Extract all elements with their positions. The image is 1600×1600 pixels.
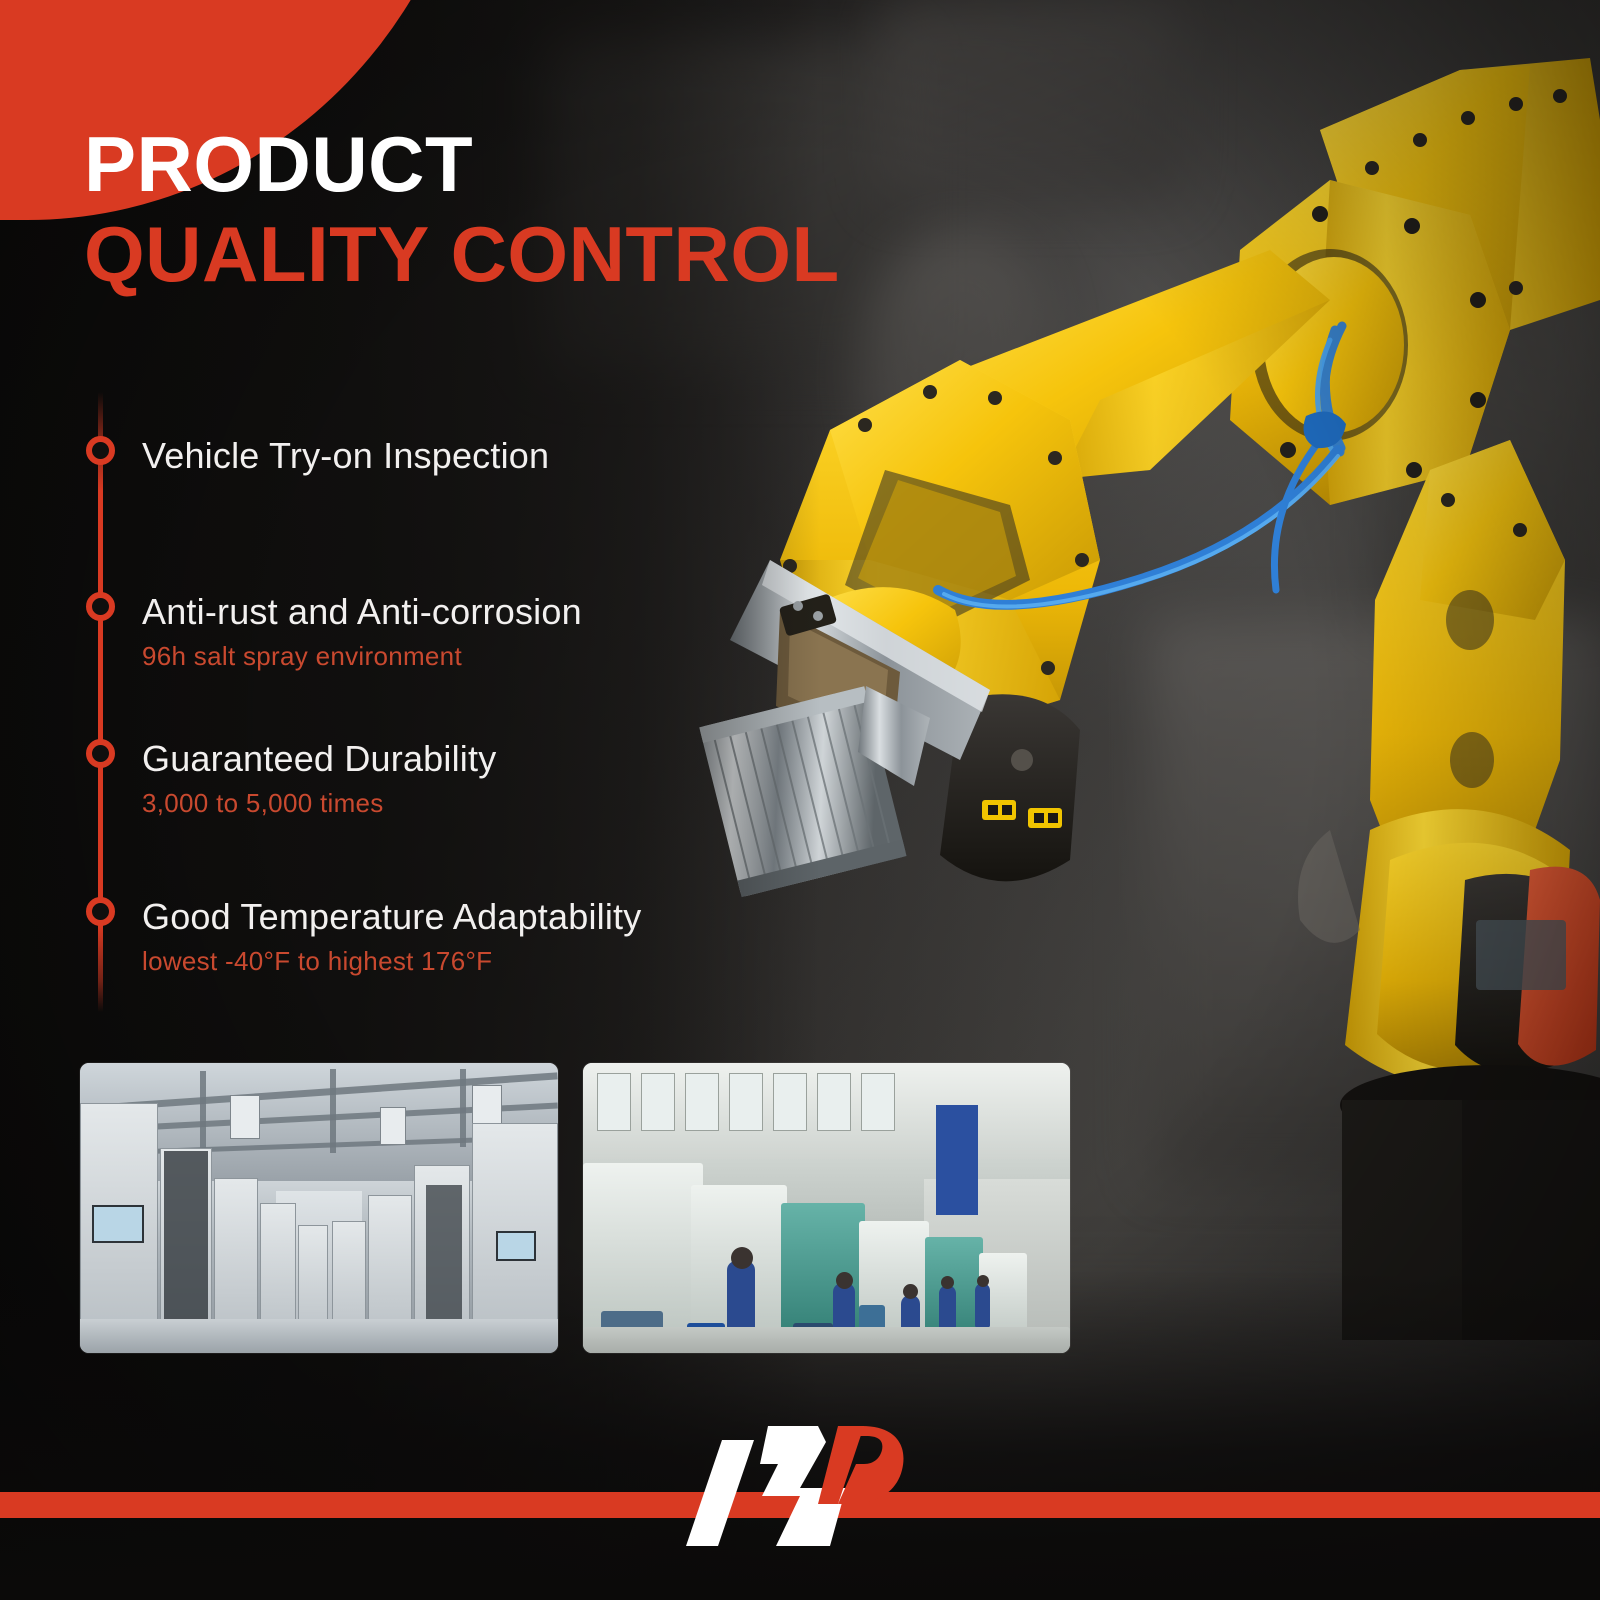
feature-title: Good Temperature Adaptability <box>142 897 641 937</box>
timeline-bullet-ring-icon <box>86 739 115 768</box>
feature-item: Good Temperature Adaptability lowest -40… <box>86 897 641 977</box>
feature-subtitle: 96h salt spray environment <box>142 641 582 672</box>
feature-title: Anti-rust and Anti-corrosion <box>142 592 582 632</box>
page-title-line-1: PRODUCT <box>84 125 840 205</box>
timeline-bullet-ring-icon <box>86 897 115 926</box>
automated-production-line-photo <box>80 1063 558 1353</box>
feature-item: Guaranteed Durability 3,000 to 5,000 tim… <box>86 739 496 819</box>
feature-title: Vehicle Try-on Inspection <box>142 436 549 476</box>
thumbnail-gallery <box>80 1063 1070 1353</box>
cnc-machine-shop-photo <box>583 1063 1070 1353</box>
feature-title: Guaranteed Durability <box>142 739 496 779</box>
feature-subtitle: lowest -40°F to highest 176°F <box>142 946 641 977</box>
footer-brand-band <box>0 1400 1600 1600</box>
feature-item: Vehicle Try-on Inspection <box>86 436 549 476</box>
timeline-bullet-ring-icon <box>86 592 115 621</box>
feature-subtitle: 3,000 to 5,000 times <box>142 788 496 819</box>
page-title-line-2: QUALITY CONTROL <box>84 215 840 295</box>
feature-item: Anti-rust and Anti-corrosion 96h salt sp… <box>86 592 582 672</box>
brand-h-p-monogram-logo <box>650 1418 950 1568</box>
page-title: PRODUCT QUALITY CONTROL <box>84 125 840 294</box>
timeline-bullet-ring-icon <box>86 436 115 465</box>
feature-timeline: Vehicle Try-on Inspection Anti-rust and … <box>86 392 806 1012</box>
product-quality-control-poster: PRODUCT QUALITY CONTROL Vehicle Try-on I… <box>0 0 1600 1600</box>
